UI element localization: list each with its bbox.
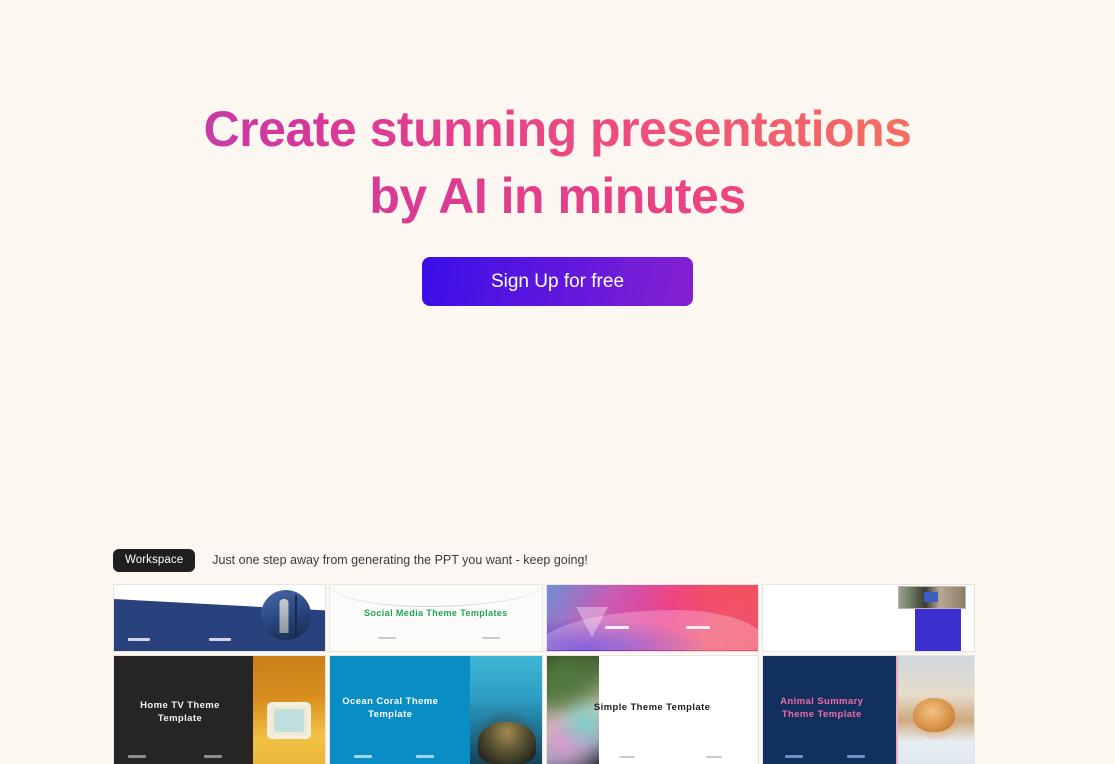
sign-up-button[interactable]: Sign Up for free [422, 257, 693, 306]
template-card-5-title: Home TV Theme Template [124, 700, 236, 726]
template-card-2-title: Social Media Theme Templates [330, 607, 541, 619]
template-card-2[interactable]: Social Media Theme Templates [329, 584, 542, 652]
text-bar [619, 756, 635, 758]
workspace-photo [898, 586, 966, 609]
template-card-8-title: Animal Summary Theme Template [767, 696, 877, 722]
headline-line-2: by AI in minutes [0, 163, 1115, 230]
workspace-panel: Workspace Just one step away from genera… [113, 547, 975, 764]
template-card-7[interactable]: Simple Theme Template [546, 655, 759, 764]
text-bar [605, 626, 629, 629]
blue-block-shape [915, 608, 961, 652]
workspace-badge: Workspace [113, 549, 195, 572]
template-card-8[interactable]: Animal Summary Theme Template [762, 655, 975, 764]
text-bar [378, 637, 396, 639]
text-bar [128, 638, 150, 641]
template-card-6-title: Ocean Coral Theme Template [336, 696, 444, 722]
dog-photo [896, 656, 974, 764]
template-card-4[interactable] [762, 584, 975, 652]
template-card-6[interactable]: Ocean Coral Theme Template [329, 655, 542, 764]
text-bar [482, 637, 500, 639]
text-bar [416, 755, 434, 758]
headline-line-1: Create stunning presentations [0, 96, 1115, 163]
text-bar [847, 755, 865, 758]
page-root: Create stunning presentations by AI in m… [0, 0, 1115, 764]
template-card-5[interactable]: Home TV Theme Template [113, 655, 326, 764]
template-card-1[interactable] [113, 584, 326, 652]
text-bar [706, 756, 722, 758]
decorative-wave [330, 585, 541, 607]
monument-photo-circle [261, 590, 311, 640]
text-bar [209, 638, 231, 641]
text-bar [354, 755, 372, 758]
text-bar [128, 755, 146, 758]
text-bar [785, 755, 803, 758]
text-bar [686, 626, 710, 629]
template-card-3[interactable] [546, 584, 759, 652]
template-grid: Social Media Theme Templates Home TV Th [113, 584, 975, 764]
text-bar [204, 755, 222, 758]
coral-reef-photo [470, 656, 542, 764]
workspace-note: Just one step away from generating the P… [212, 553, 588, 567]
hero-section: Create stunning presentations by AI in m… [0, 0, 1115, 229]
retro-tv-shape [267, 702, 311, 739]
cta-container: Sign Up for free [0, 257, 1115, 306]
template-card-7-title: Simple Theme Template [547, 702, 758, 715]
decorative-triangle [576, 607, 608, 637]
workspace-header: Workspace Just one step away from genera… [113, 547, 975, 573]
page-title: Create stunning presentations by AI in m… [0, 96, 1115, 229]
